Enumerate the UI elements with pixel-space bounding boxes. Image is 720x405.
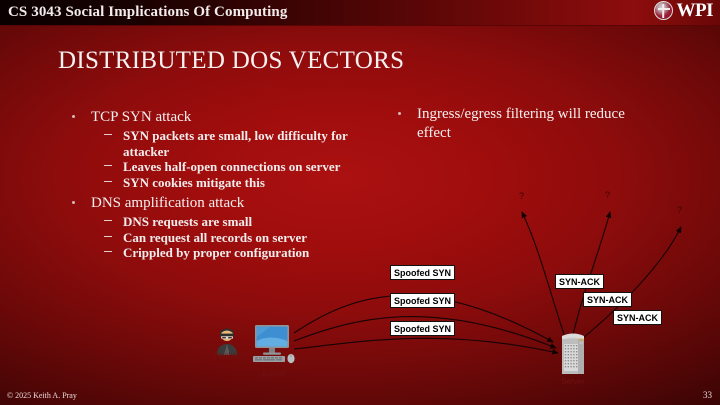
wpi-logo-text: WPI (677, 1, 714, 20)
bullet-level1: TCP SYN attack (66, 108, 366, 127)
page-title: DISTRIBUTED DOS VECTORS (58, 47, 404, 75)
bullet-level2: SYN cookies mitigate this (66, 175, 366, 191)
bullet-level1: Ingress/egress filtering will reduce eff… (392, 105, 662, 143)
spoofed-syn-arrows (294, 296, 558, 353)
unknown-marker: ? (519, 191, 524, 201)
botnet-node (250, 324, 298, 368)
slide-header: CS 3043 Social Implications Of Computing… (0, 0, 720, 26)
course-title: CS 3043 Social Implications Of Computing (8, 4, 287, 21)
right-bullet-column: Ingress/egress filtering will reduce eff… (392, 105, 662, 144)
bullet-text: Leaves half-open connections on server (123, 159, 340, 174)
bullet-dot-icon (398, 112, 401, 115)
bullet-text: DNS amplification attack (91, 195, 244, 211)
syn-ack-label: SYN-ACK (613, 310, 662, 325)
unknown-marker: ? (605, 190, 610, 200)
bullet-dot-icon (72, 201, 75, 204)
wpi-logo: WPI (654, 1, 714, 20)
spoofed-syn-label: Spoofed SYN (390, 265, 455, 280)
bullet-level2: SYN packets are small, low difficulty fo… (66, 128, 366, 159)
bullet-text: Can request all records on server (123, 230, 307, 245)
bullet-dash-icon (104, 220, 112, 221)
hacker-node-label: Hacker (207, 351, 247, 360)
hacker-person-icon (215, 325, 239, 355)
server-node-label: Server (551, 377, 595, 386)
bullet-dot-icon (72, 115, 75, 118)
bullet-text: Crippled by proper configuration (123, 245, 309, 260)
bullet-dash-icon (104, 251, 112, 252)
bullet-text: SYN packets are small, low difficulty fo… (123, 128, 347, 159)
slide-root: CS 3043 Social Implications Of Computing… (0, 0, 720, 405)
bullet-level2: Crippled by proper configuration (66, 245, 366, 261)
bullet-level2: DNS requests are small (66, 214, 366, 230)
bullet-dash-icon (104, 134, 112, 135)
syn-ack-label: SYN-ACK (555, 274, 604, 289)
left-bullet-column: TCP SYN attack SYN packets are small, lo… (66, 108, 366, 261)
bullet-text: Ingress/egress filtering will reduce eff… (417, 106, 625, 141)
bullet-text: SYN cookies mitigate this (123, 175, 265, 190)
bullet-text: DNS requests are small (123, 214, 252, 229)
unknown-marker: ? (677, 205, 682, 215)
bullet-level1: DNS amplification attack (66, 194, 366, 213)
spoofed-syn-label: Spoofed SYN (390, 321, 455, 336)
bullet-dash-icon (104, 236, 112, 237)
syn-ack-label: SYN-ACK (583, 292, 632, 307)
botnet-node-label: Botnet (252, 369, 296, 378)
bullet-level2: Can request all records on server (66, 230, 366, 246)
syn-ack-arrows (522, 212, 681, 342)
bullet-text: TCP SYN attack (91, 109, 191, 125)
copyright-text: © 2025 Keith A. Pray (7, 391, 77, 400)
page-number: 33 (703, 390, 712, 400)
desktop-computer-icon (250, 324, 298, 368)
wpi-seal-icon (654, 1, 673, 20)
server-rack-icon (558, 330, 588, 376)
bullet-dash-icon (104, 165, 112, 166)
bullet-dash-icon (104, 181, 112, 182)
hacker-node (215, 325, 239, 355)
spoofed-syn-label: Spoofed SYN (390, 293, 455, 308)
bullet-level2: Leaves half-open connections on server (66, 159, 366, 175)
server-node (558, 330, 588, 376)
